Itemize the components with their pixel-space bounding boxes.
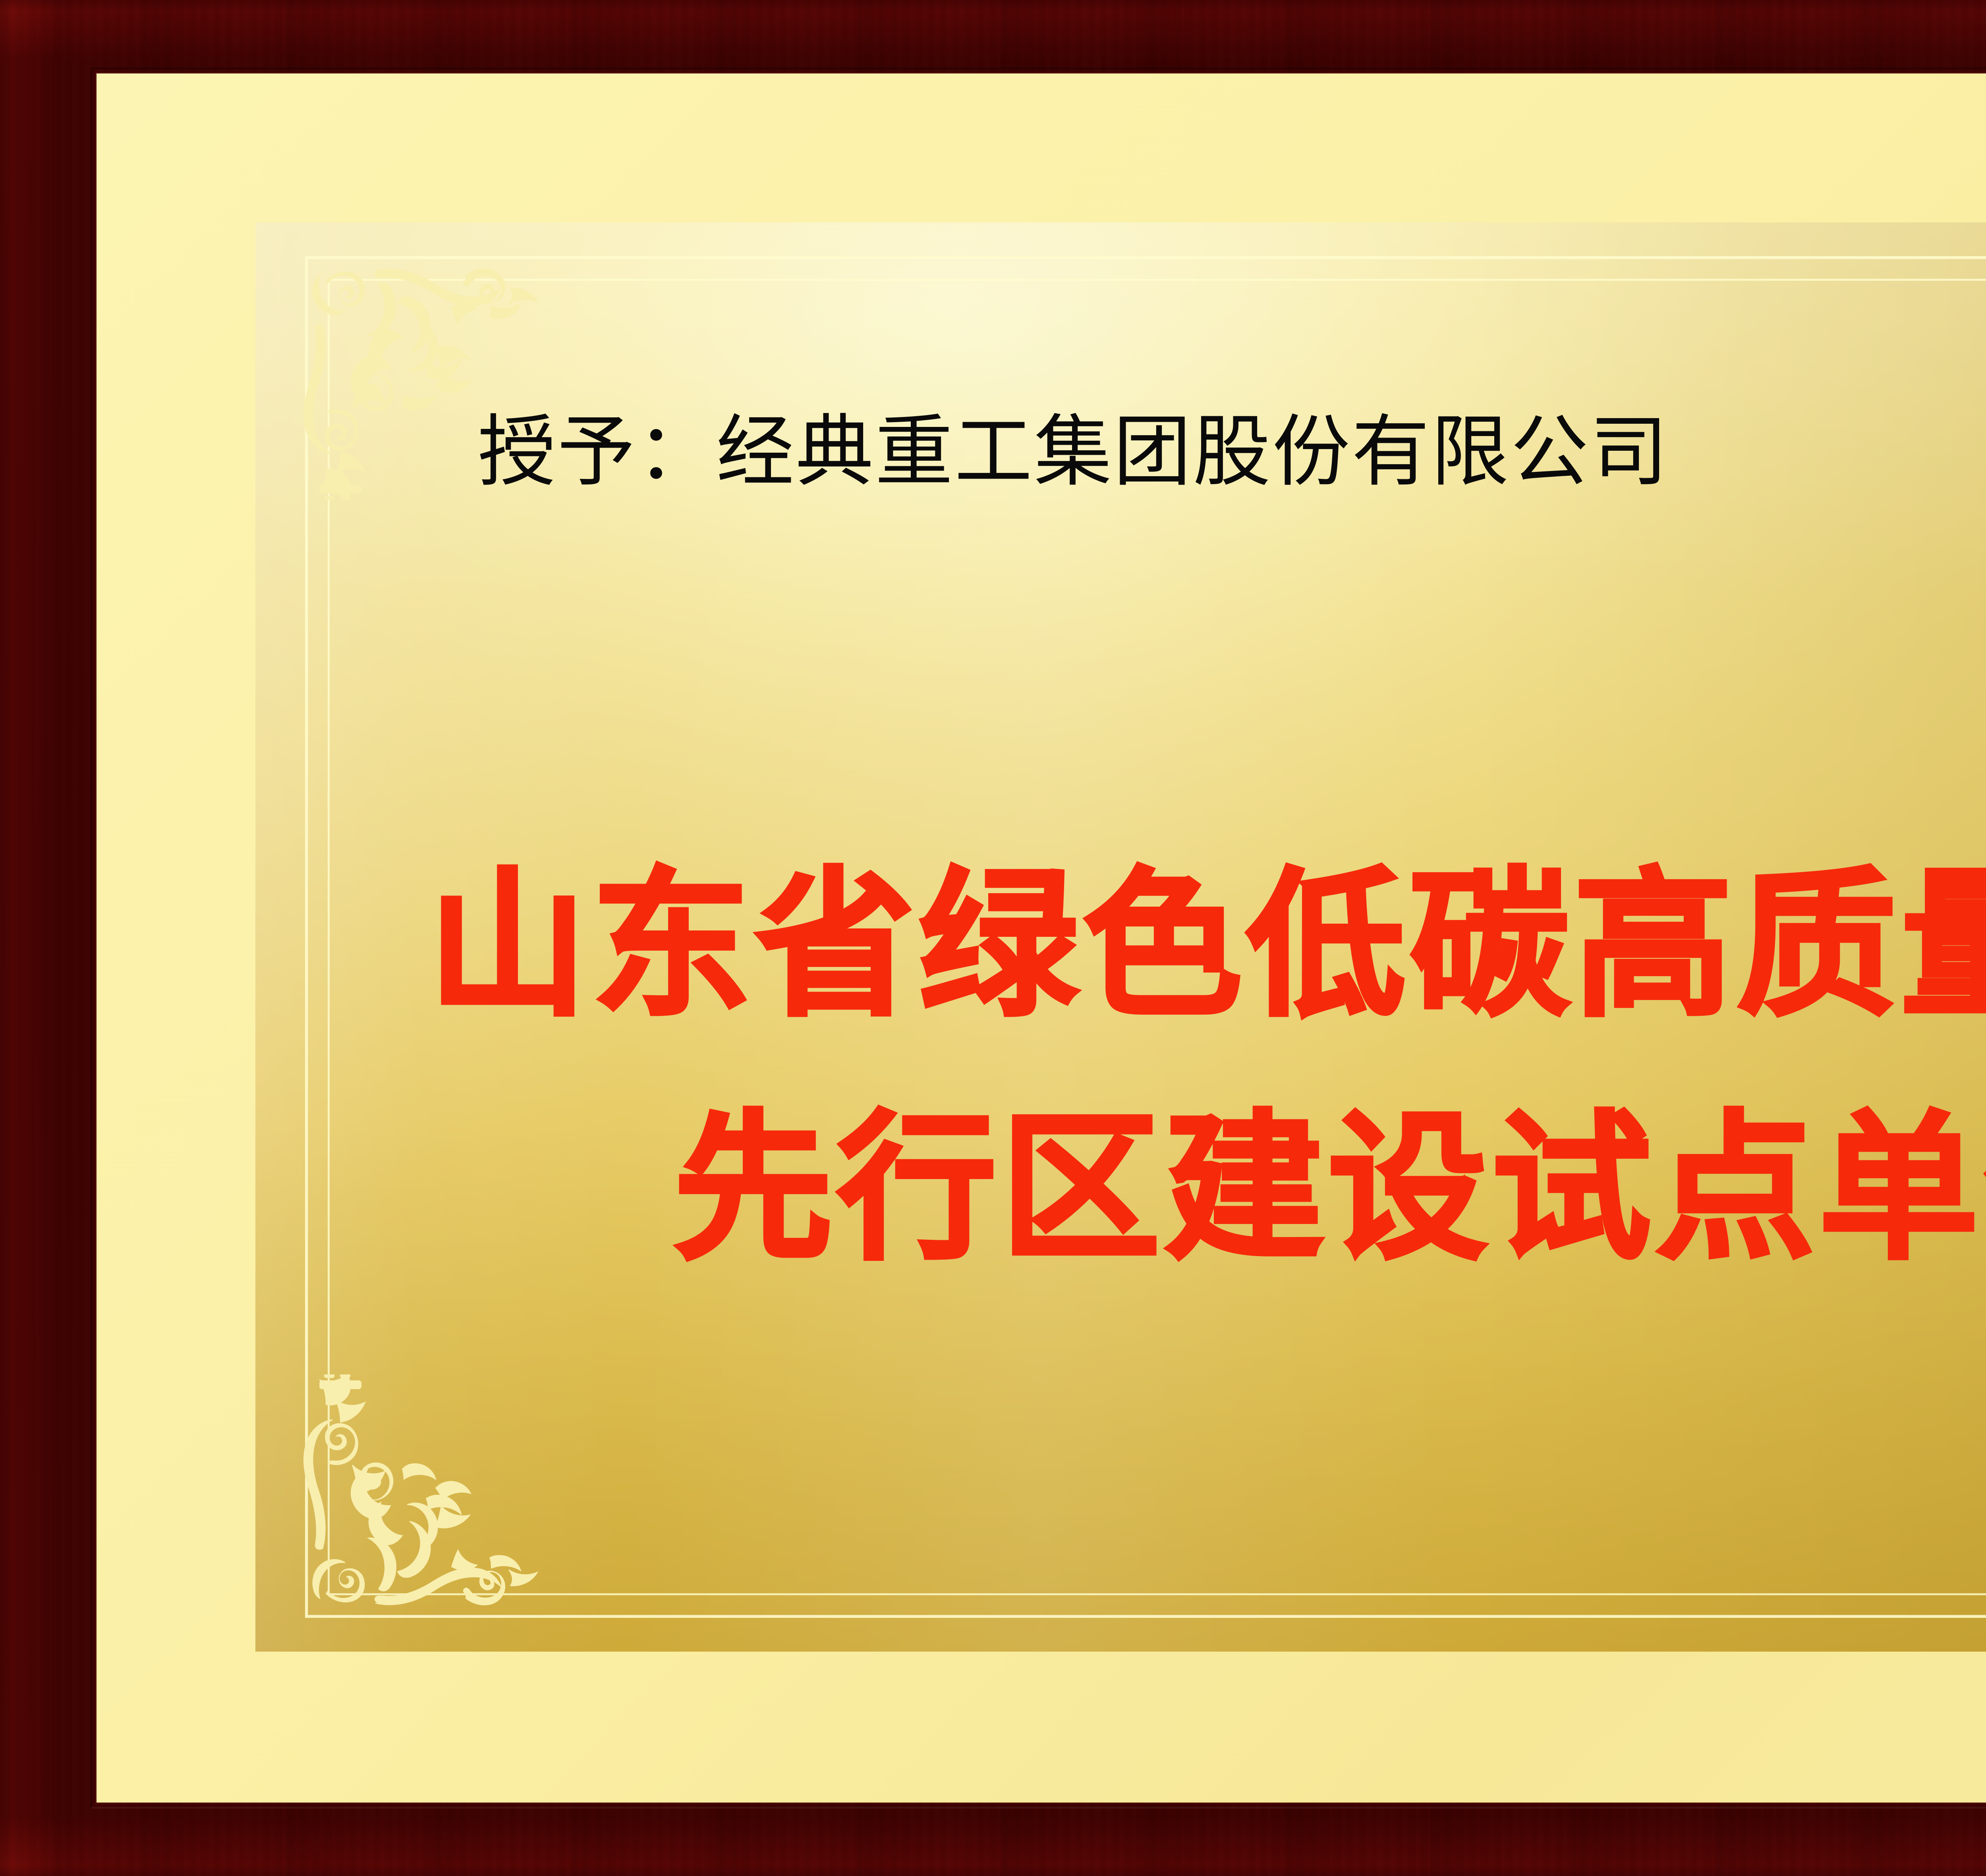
corner-scroll-ornament-bottom-left [302, 1374, 556, 1621]
award-title-block: 山东省绿色低碳高质量发展 先行区建设试点单位 [255, 824, 1986, 1310]
award-title-line-1: 山东省绿色低碳高质量发展 [255, 824, 1986, 1067]
awarded-to-line: 授予：经典重工集团股份有限公司 [478, 413, 1669, 491]
award-plaque: 授予：经典重工集团股份有限公司 山东省绿色低碳高质量发展 先行区建设试点单位 [0, 0, 1986, 1876]
award-title-line-2: 先行区建设试点单位 [255, 1067, 1986, 1310]
cream-mat-border: 授予：经典重工集团股份有限公司 山东省绿色低碳高质量发展 先行区建设试点单位 [97, 73, 1986, 1803]
